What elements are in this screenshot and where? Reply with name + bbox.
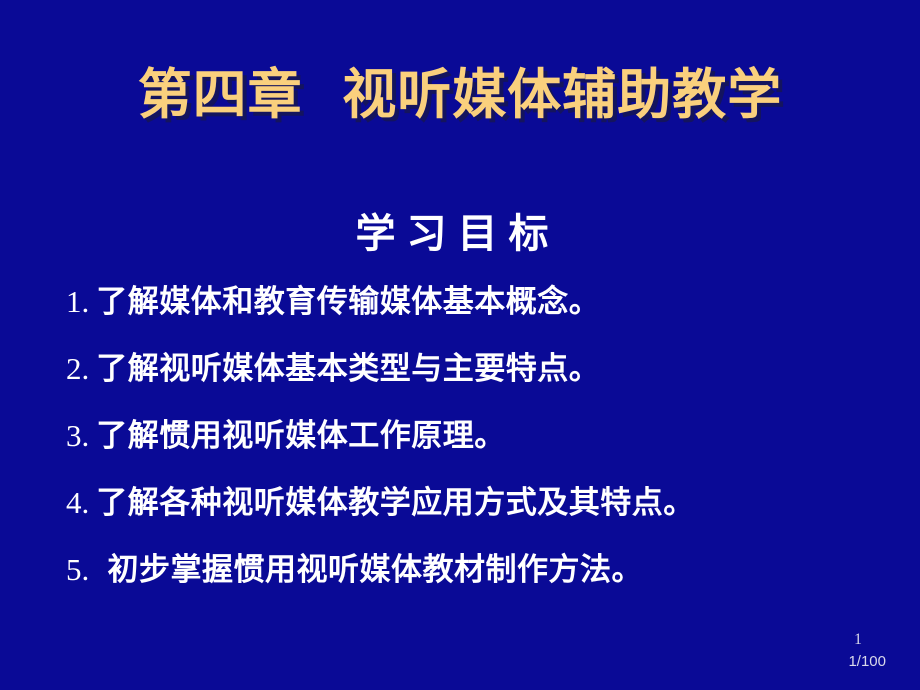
list-item-label: 了解视听媒体基本类型与主要特点。 — [96, 354, 600, 385]
list-item-number: 4. — [66, 487, 89, 518]
list-item: 5. 初步掌握惯用视听媒体教材制作方法。 — [66, 554, 866, 621]
list-item: 2. 了解视听媒体基本类型与主要特点。 — [66, 353, 866, 420]
objectives-list: 1. 了解媒体和教育传输媒体基本概念。 2. 了解视听媒体基本类型与主要特点。 … — [66, 286, 866, 621]
list-item-number: 5. — [66, 554, 89, 585]
list-item: 1. 了解媒体和教育传输媒体基本概念。 — [66, 286, 866, 353]
list-item-number: 1. — [66, 286, 89, 317]
page-number: 1 — [854, 632, 862, 648]
subtitle-learning-objectives: 学习目标 — [345, 212, 560, 255]
list-item: 4. 了解各种视听媒体教学应用方式及其特点。 — [66, 487, 866, 554]
subtitle-container: 学习目标 — [0, 212, 920, 255]
list-item-label: 了解媒体和教育传输媒体基本概念。 — [96, 287, 600, 318]
list-item-number: 3. — [66, 420, 89, 451]
list-item-label: 了解各种视听媒体教学应用方式及其特点。 — [96, 488, 695, 519]
slide-counter: 1/100 — [848, 654, 886, 669]
page-title: 第四章 视听媒体辅助教学 — [0, 68, 920, 122]
list-item-number: 2. — [66, 353, 89, 384]
list-item-label: 了解惯用视听媒体工作原理。 — [96, 421, 506, 452]
list-item: 3. 了解惯用视听媒体工作原理。 — [66, 420, 866, 487]
list-item-label: 初步掌握惯用视听媒体教材制作方法。 — [96, 555, 643, 586]
presentation-slide: 第四章 视听媒体辅助教学 学习目标 1. 了解媒体和教育传输媒体基本概念。 2.… — [0, 0, 920, 690]
